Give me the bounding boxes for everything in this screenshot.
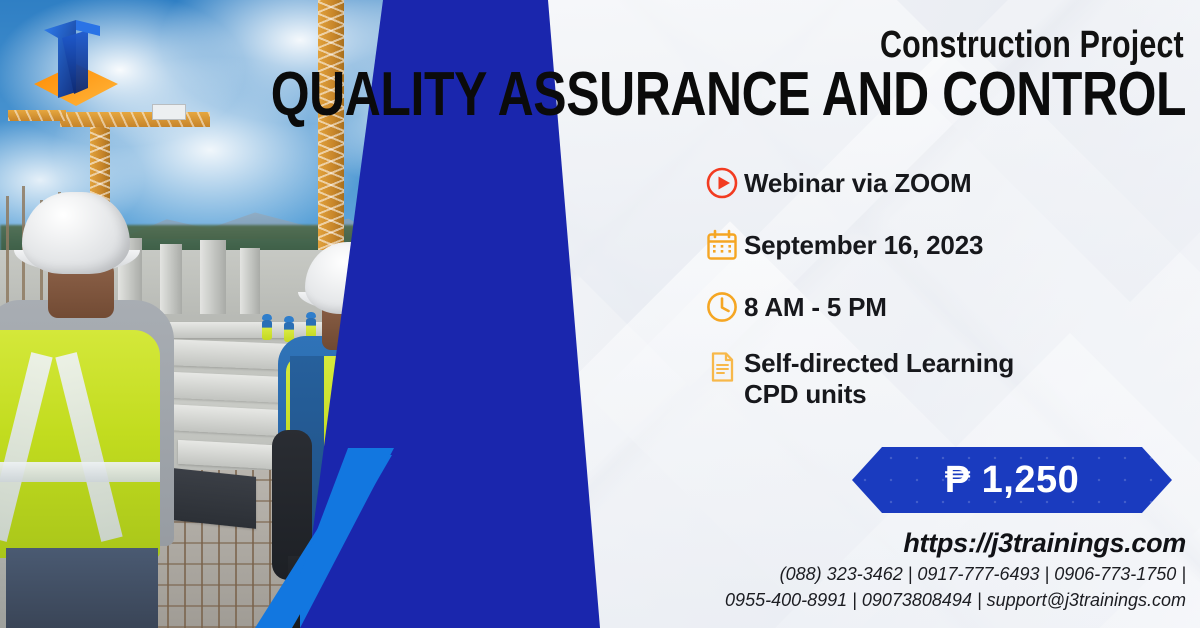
j3-logo-icon	[14, 12, 132, 112]
worker-legs	[6, 548, 158, 628]
clock-icon	[700, 284, 744, 330]
detail-row-cpd: Self-directed Learning CPD units	[700, 344, 1180, 409]
crane-jib	[60, 112, 210, 127]
detail-text-line2: CPD units	[744, 379, 866, 409]
crane-operator-cab	[152, 104, 186, 120]
concrete-column	[160, 244, 182, 314]
detail-text: Webinar via ZOOM	[744, 160, 971, 199]
detail-row-format: Webinar via ZOOM	[700, 160, 1180, 206]
webinar-promo-banner: Construction Project QUALITY ASSURANCE A…	[0, 0, 1200, 628]
distant-worker-helmet	[284, 316, 294, 322]
distant-worker-helmet	[262, 314, 272, 320]
contact-info: (088) 323-3462 | 0917-777-6493 | 0906-77…	[725, 562, 1186, 613]
page-title: QUALITY ASSURANCE AND CONTROL	[271, 64, 1186, 126]
detail-text: 8 AM - 5 PM	[744, 284, 887, 323]
website-link[interactable]: https://j3trainings.com	[903, 528, 1186, 559]
price-banner[interactable]: ₱ 1,250	[852, 447, 1172, 513]
concrete-column	[240, 248, 260, 314]
concrete-column	[200, 240, 226, 314]
detail-text-line1: Self-directed Learning	[744, 348, 1014, 378]
detail-row-date: September 16, 2023	[700, 222, 1180, 268]
vest-reflective-band	[0, 462, 160, 482]
distant-worker-helmet	[306, 312, 316, 318]
detail-text-multiline: Self-directed Learning CPD units	[744, 344, 1014, 409]
play-circle-icon	[700, 160, 744, 206]
calendar-icon	[700, 222, 744, 268]
contact-line-1: (088) 323-3462 | 0917-777-6493 | 0906-77…	[780, 564, 1186, 584]
contact-line-2: 0955-400-8991 | 09073808494 | support@j3…	[725, 590, 1186, 610]
distant-worker	[262, 320, 272, 340]
detail-text: September 16, 2023	[744, 222, 983, 261]
distant-worker	[306, 318, 316, 338]
document-icon	[700, 344, 744, 390]
j3-logo[interactable]	[14, 12, 132, 112]
rebar	[6, 196, 9, 316]
safety-vest	[0, 330, 160, 558]
detail-row-time: 8 AM - 5 PM	[700, 284, 1180, 330]
event-details-list: Webinar via ZOOM September 16, 2023	[700, 160, 1180, 423]
hard-hat	[22, 192, 130, 274]
price-amount: ₱ 1,250	[852, 447, 1172, 513]
